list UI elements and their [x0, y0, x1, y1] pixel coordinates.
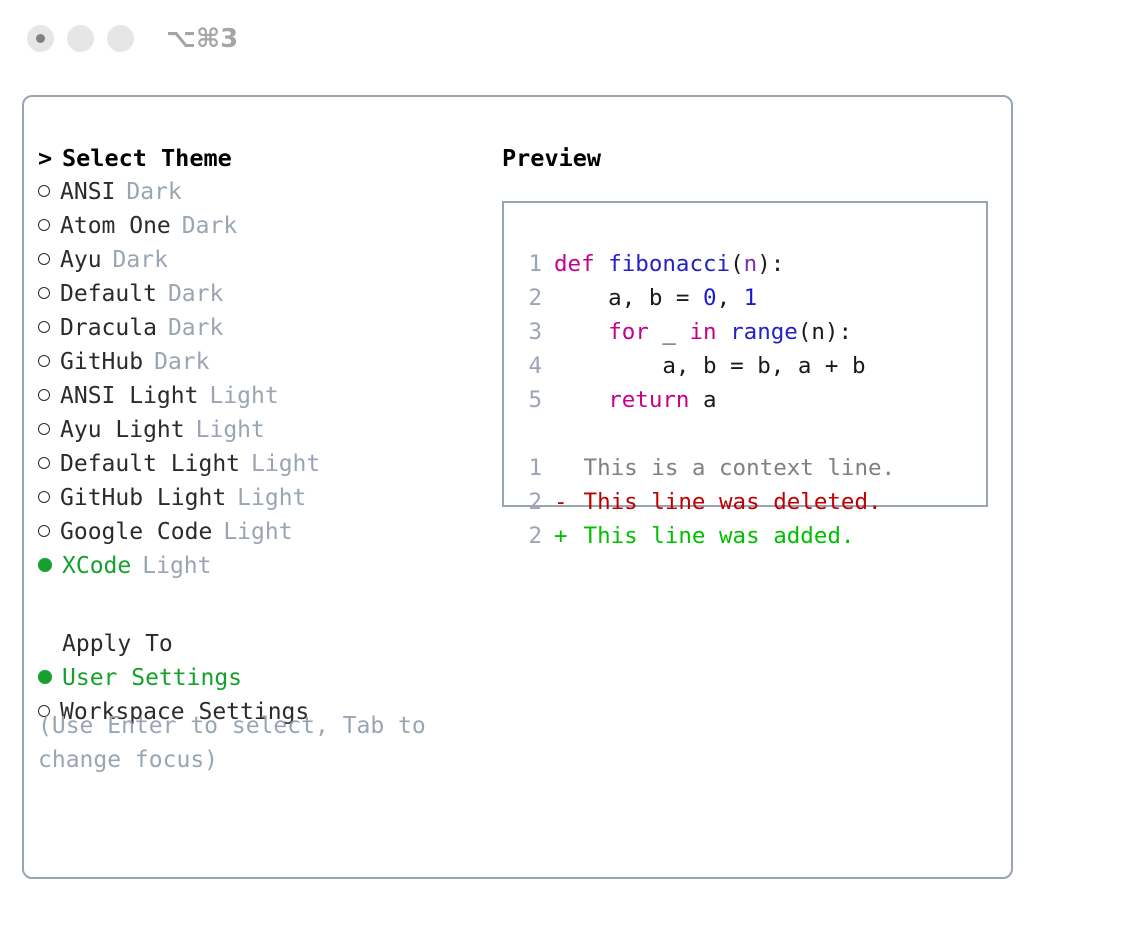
code-token-kw: def — [554, 251, 608, 277]
radio-unselected-icon — [38, 287, 50, 299]
theme-kind-badge: Light — [142, 553, 211, 579]
theme-kind-badge: Dark — [154, 349, 209, 375]
diff-text: This line was added. — [570, 523, 854, 549]
diff-line-number: 2 — [516, 519, 542, 553]
code-line-number: 1 — [516, 247, 542, 281]
code-line-number: 4 — [516, 349, 542, 383]
diff-text: This is a context line. — [570, 455, 895, 481]
theme-list-item[interactable]: Default LightLight — [38, 447, 488, 481]
theme-list-item[interactable]: Atom OneDark — [38, 209, 488, 243]
diff-line: 2+ This line was added. — [516, 519, 980, 553]
keyboard-shortcut-label: ⌥⌘3 — [166, 24, 238, 54]
theme-list-item[interactable]: GitHub LightLight — [38, 481, 488, 515]
theme-name: ANSI — [60, 179, 115, 205]
theme-kind-badge: Light — [209, 383, 278, 409]
app-window: ⌥⌘3 >Select Theme ANSIDarkAtom OneDarkAy… — [0, 0, 1140, 934]
code-line: 5 return a — [516, 383, 980, 417]
code-line: 1def fibonacci(n): — [516, 247, 980, 281]
code-token-plain: , — [717, 285, 744, 311]
title-bar: ⌥⌘3 — [0, 0, 1140, 78]
diff-sign — [554, 451, 570, 485]
theme-name: Dracula — [60, 315, 157, 341]
traffic-light-3[interactable] — [107, 25, 134, 52]
radio-unselected-icon — [38, 525, 50, 537]
code-token-plain: a, b = b, a + b — [554, 353, 866, 379]
preview-title: Preview — [502, 141, 997, 175]
theme-kind-badge: Dark — [168, 281, 223, 307]
traffic-light-2[interactable] — [67, 25, 94, 52]
theme-name: Ayu Light — [60, 417, 185, 443]
apply-to-heading-label: Apply To — [62, 631, 173, 657]
radio-unselected-icon — [38, 185, 50, 197]
code-token-plain — [554, 319, 608, 345]
theme-list-item[interactable]: AyuDark — [38, 243, 488, 277]
radio-unselected-icon — [38, 457, 50, 469]
diff-line: 1 This is a context line. — [516, 451, 980, 485]
code-line: 2 a, b = 0, 1 — [516, 281, 980, 315]
theme-kind-badge: Dark — [168, 315, 223, 341]
code-token-fn: fibonacci — [608, 251, 730, 277]
theme-list-item[interactable]: DraculaDark — [38, 311, 488, 345]
code-token-plain: _ — [649, 319, 690, 345]
theme-name: Ayu — [60, 247, 102, 273]
radio-unselected-icon — [38, 389, 50, 401]
preview-code-area: 1def fibonacci(n):2 a, b = 0, 13 for _ i… — [516, 247, 980, 553]
theme-name: Default Light — [60, 451, 240, 477]
traffic-light-active[interactable] — [27, 25, 54, 52]
code-token-num: 0 — [703, 285, 717, 311]
code-line: 4 a, b = b, a + b — [516, 349, 980, 383]
theme-list: ANSIDarkAtom OneDarkAyuDarkDefaultDarkDr… — [38, 175, 488, 583]
active-dot-icon — [36, 34, 45, 43]
theme-list-item[interactable]: ANSIDark — [38, 175, 488, 209]
radio-unselected-icon — [38, 321, 50, 333]
theme-name: XCode — [62, 553, 131, 579]
theme-name: Google Code — [60, 519, 212, 545]
code-token-num: 1 — [744, 285, 758, 311]
code-token-punc: ): — [757, 251, 784, 277]
prompt-caret-icon: > — [38, 141, 62, 175]
radio-selected-icon — [38, 670, 52, 684]
code-line-number: 3 — [516, 315, 542, 349]
code-token-punc: ( — [730, 251, 744, 277]
theme-list-item[interactable]: XCodeLight — [38, 549, 488, 583]
theme-kind-badge: Light — [251, 451, 320, 477]
theme-name: GitHub Light — [60, 485, 226, 511]
code-token-param: n — [744, 251, 758, 277]
theme-kind-badge: Light — [237, 485, 306, 511]
radio-unselected-icon — [38, 491, 50, 503]
code-token-kw: return — [608, 387, 689, 413]
apply-to-heading: Apply To — [38, 627, 488, 661]
radio-unselected-icon — [38, 355, 50, 367]
theme-name: Default — [60, 281, 157, 307]
theme-name: Atom One — [60, 213, 171, 239]
list-spacer — [38, 583, 488, 627]
apply-to-item[interactable]: User Settings — [38, 661, 488, 695]
radio-unselected-icon — [38, 219, 50, 231]
theme-kind-badge: Light — [223, 519, 292, 545]
preview-column: Preview 1def fibonacci(n):2 a, b = 0, 13… — [502, 141, 997, 175]
diff-line-number: 1 — [516, 451, 542, 485]
select-theme-heading: >Select Theme — [38, 141, 488, 175]
diff-text: This line was deleted. — [570, 489, 882, 515]
diff-sign: + — [554, 519, 570, 553]
theme-name: GitHub — [60, 349, 143, 375]
theme-kind-badge: Dark — [113, 247, 168, 273]
apply-to-label: User Settings — [62, 665, 242, 691]
code-token-plain: a — [689, 387, 716, 413]
code-token-plain: a, b = — [554, 285, 703, 311]
radio-unselected-icon — [38, 253, 50, 265]
theme-selector-column: >Select Theme ANSIDarkAtom OneDarkAyuDar… — [38, 141, 488, 729]
theme-list-item[interactable]: Ayu LightLight — [38, 413, 488, 447]
radio-unselected-icon — [38, 423, 50, 435]
code-token-punc: (n): — [798, 319, 852, 345]
traffic-light-group — [27, 25, 134, 52]
code-token-plain — [717, 319, 731, 345]
theme-kind-badge: Light — [196, 417, 265, 443]
code-token-plain — [554, 387, 608, 413]
theme-list-item[interactable]: GitHubDark — [38, 345, 488, 379]
theme-name: ANSI Light — [60, 383, 198, 409]
code-line-number: 5 — [516, 383, 542, 417]
theme-list-item[interactable]: Google CodeLight — [38, 515, 488, 549]
theme-list-item[interactable]: DefaultDark — [38, 277, 488, 311]
code-diff-separator — [516, 417, 980, 451]
main-panel: >Select Theme ANSIDarkAtom OneDarkAyuDar… — [22, 95, 1013, 879]
code-line: 3 for _ in range(n): — [516, 315, 980, 349]
code-token-fn: range — [730, 319, 798, 345]
diff-sign: - — [554, 485, 570, 519]
select-theme-heading-label: Select Theme — [62, 144, 232, 172]
theme-kind-badge: Dark — [182, 213, 237, 239]
theme-list-item[interactable]: ANSI LightLight — [38, 379, 488, 413]
radio-selected-icon — [38, 558, 52, 572]
preview-box: 1def fibonacci(n):2 a, b = 0, 13 for _ i… — [502, 201, 988, 507]
diff-line: 2- This line was deleted. — [516, 485, 980, 519]
theme-kind-badge: Dark — [126, 179, 181, 205]
help-text: (Use Enter to select, Tab to change focu… — [38, 709, 448, 777]
code-line-number: 2 — [516, 281, 542, 315]
diff-line-number: 2 — [516, 485, 542, 519]
code-token-kw: for — [608, 319, 649, 345]
code-token-kw: in — [689, 319, 716, 345]
